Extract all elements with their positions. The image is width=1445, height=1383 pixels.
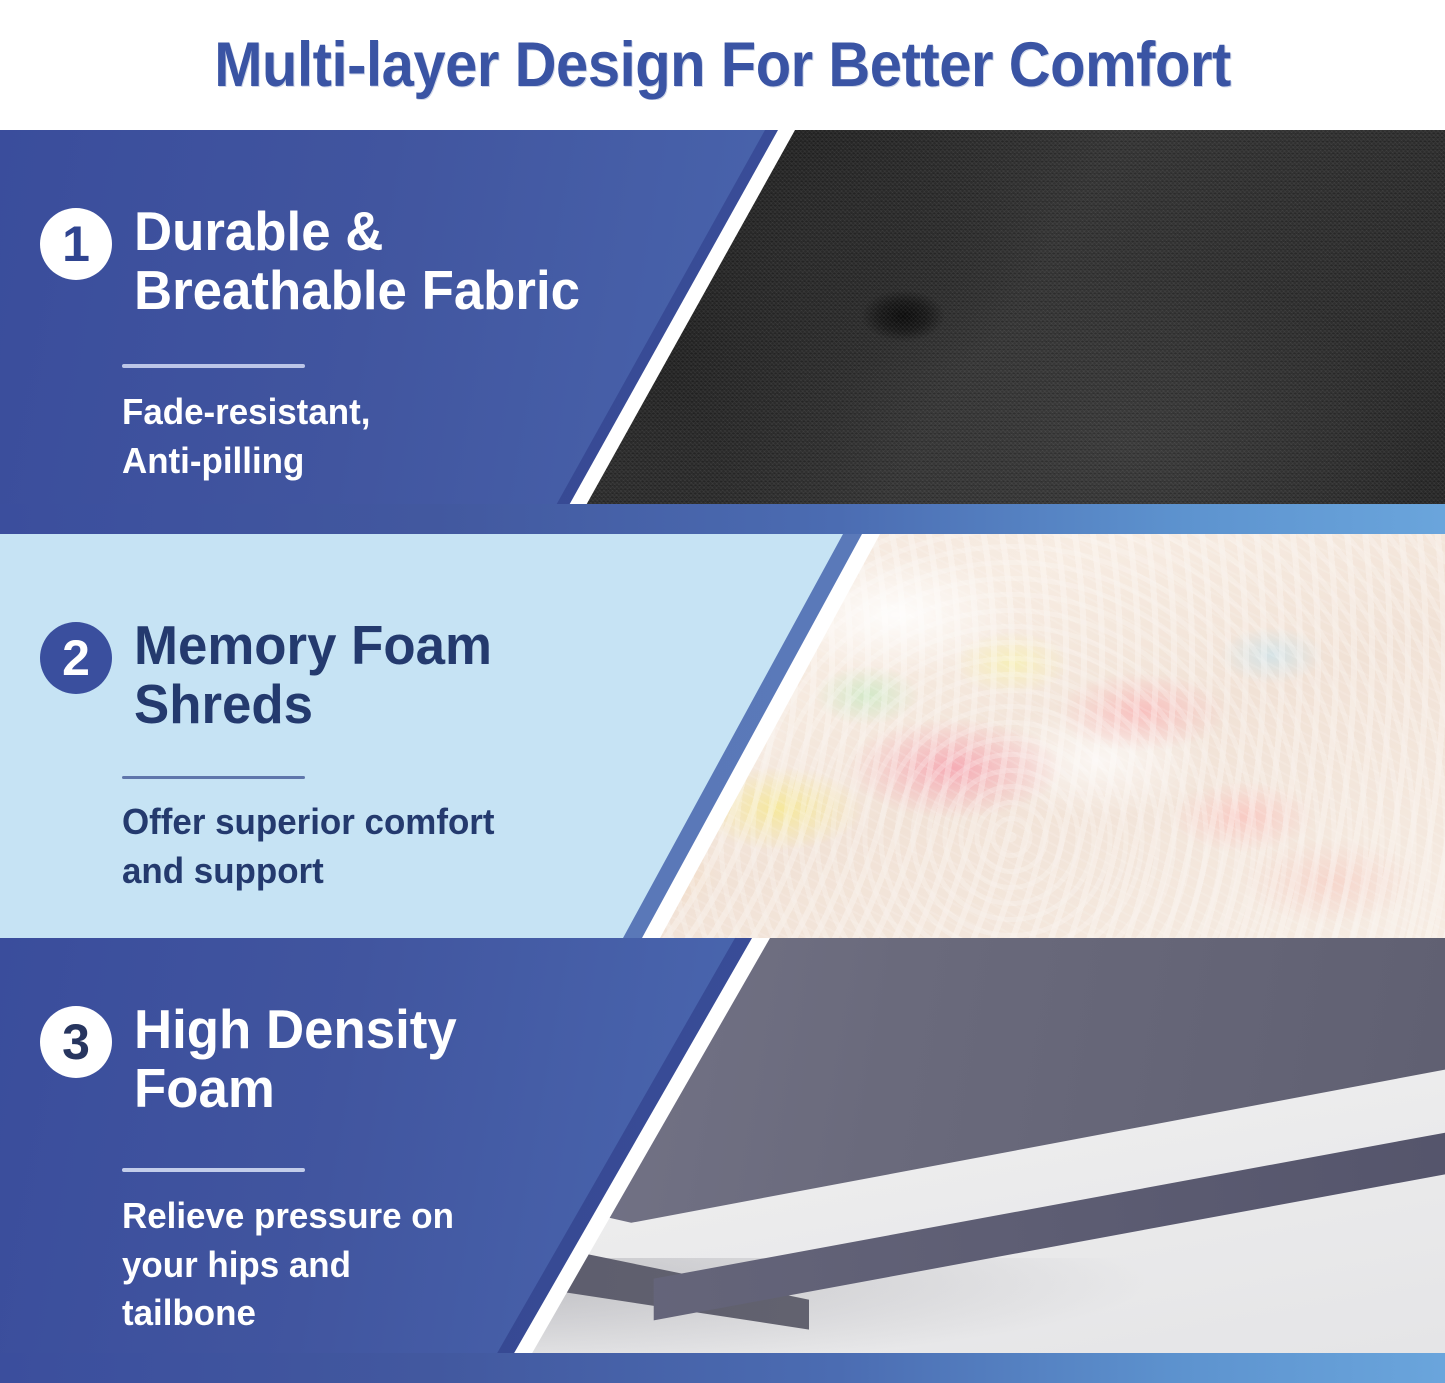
section-1-bottom-band <box>0 504 1445 534</box>
infographic-page: Multi-layer Design For Better Comfort 1 … <box>0 0 1445 1383</box>
section-2-divider-rule <box>122 776 305 779</box>
section-1-heading: Durable & Breathable Fabric <box>134 202 580 321</box>
bottom-band <box>0 1353 1445 1383</box>
page-title-text: Multi-layer Design For Better Comfort <box>214 29 1231 101</box>
section-3-heading-row: 3 High Density Foam <box>40 1000 470 1119</box>
section-1-divider-rule <box>122 364 305 368</box>
section-2-heading-row: 2 Memory Foam Shreds <box>40 616 507 735</box>
section-3-heading: High Density Foam <box>134 1000 457 1119</box>
section-1-number-badge: 1 <box>40 208 112 280</box>
section-2-heading: Memory Foam Shreds <box>134 616 492 735</box>
section-2-number-badge: 2 <box>40 622 112 694</box>
section-3-number-badge: 3 <box>40 1006 112 1078</box>
section-3-divider-rule <box>122 1168 305 1172</box>
section-3-subtext: Relieve pressure on your hips and tailbo… <box>122 1192 454 1338</box>
section-1-heading-row: 1 Durable & Breathable Fabric <box>40 202 599 321</box>
section-1-subtext: Fade-resistant, Anti-pilling <box>122 388 370 485</box>
section-2-subtext: Offer superior comfort and support <box>122 798 495 895</box>
page-title: Multi-layer Design For Better Comfort <box>0 0 1445 130</box>
